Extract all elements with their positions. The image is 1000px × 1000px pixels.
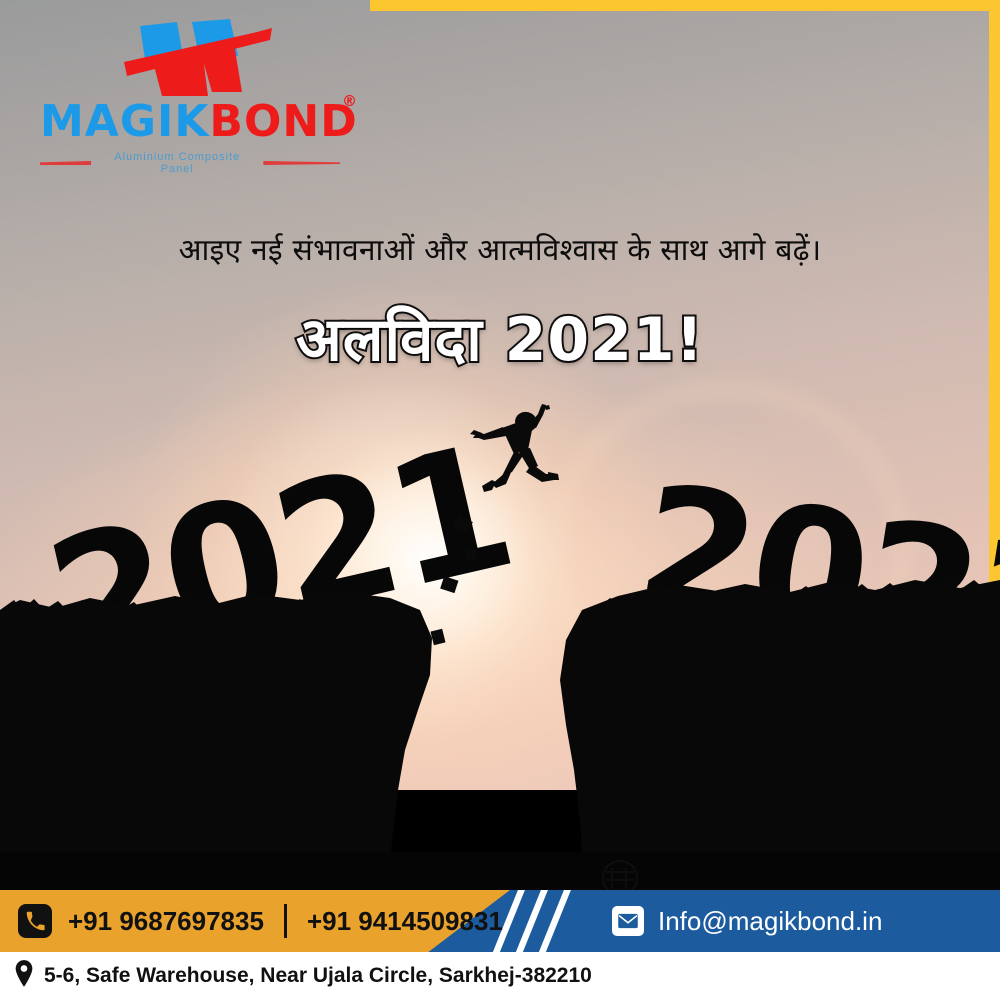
phone-icon [18, 904, 52, 938]
registered-trademark-icon: ® [342, 94, 358, 109]
email-address[interactable]: Info@magikbond.in [658, 906, 882, 937]
address-text: 5-6, Safe Warehouse, Near Ujala Circle, … [44, 964, 592, 988]
contact-footer: +91 9687697835 +91 9414509831 Info@magik… [0, 890, 1000, 1000]
phone-number-2[interactable]: +91 9414509831 [307, 906, 503, 937]
logo-word-bond: BOND [209, 96, 357, 147]
top-accent-bar [370, 0, 1000, 11]
tagline-rule-right [263, 161, 340, 165]
logo-mark-icon [122, 18, 272, 98]
phone-contacts[interactable]: +91 9687697835 +91 9414509831 [18, 890, 503, 952]
subheadline-text: आइए नई संभावनाओं और आत्मविश्वास के साथ आ… [0, 228, 1000, 269]
email-icon [612, 906, 644, 936]
footer-bar: +91 9687697835 +91 9414509831 Info@magik… [0, 890, 1000, 952]
logo-wordmark: MAGIKBOND® [40, 100, 340, 144]
phone-number-1[interactable]: +91 9687697835 [68, 906, 264, 937]
new-year-greeting-poster: MAGIKBOND® Aluminium Composite Panel आइए… [0, 0, 1000, 1000]
email-contact[interactable]: Info@magikbond.in [612, 890, 882, 952]
logo-word-magik: MAGIK [40, 96, 209, 147]
brand-logo[interactable]: MAGIKBOND® Aluminium Composite Panel [40, 18, 340, 168]
location-pin-icon [14, 960, 34, 992]
logo-tagline-text: Aluminium Composite Panel [97, 151, 257, 175]
logo-tagline-row: Aluminium Composite Panel [40, 151, 340, 175]
address-row: 5-6, Safe Warehouse, Near Ujala Circle, … [0, 952, 1000, 1000]
cliffs-and-chasm [0, 460, 1000, 890]
tagline-rule-left [40, 161, 91, 165]
phone-divider [284, 904, 287, 938]
headline-text: अलविदा 2021! [0, 296, 1000, 378]
